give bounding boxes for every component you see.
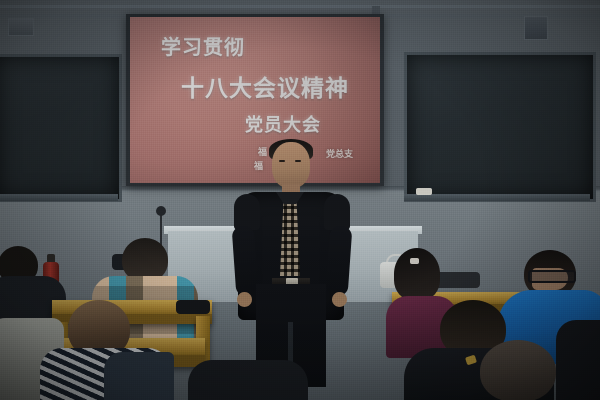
slide-heading-line1: 学习贯彻 (130, 31, 328, 60)
desk-object-center (176, 300, 210, 314)
audience-dark-front-right (556, 320, 600, 400)
chalk-piece (416, 188, 432, 195)
presenter (234, 142, 350, 387)
ceiling-line (0, 5, 600, 8)
slide-heading-line3: 党员大会 (158, 111, 380, 137)
slide-heading-line2: 十八大会议精神 (140, 69, 380, 103)
torso (188, 360, 308, 400)
presenter-eye-left (279, 160, 285, 162)
presenter-eye-right (295, 160, 301, 162)
classroom-photo: 学习贯彻 十八大会议精神 党员大会 福 福 党总支 (0, 0, 600, 400)
blackboard-right (404, 52, 596, 202)
microphone-head (156, 206, 166, 216)
presenter-shoulder-left (234, 194, 260, 230)
blackboard-left (0, 54, 122, 202)
wall-speaker-left (8, 18, 34, 36)
presenter-shoulder-right (324, 194, 350, 230)
presenter-hand-right (332, 292, 347, 307)
wall-speaker-right (524, 16, 548, 40)
hair-clip (410, 258, 419, 264)
glasses-icon (528, 270, 576, 283)
presenter-arm-right (326, 225, 353, 296)
presenter-head (272, 142, 310, 188)
head (480, 340, 556, 400)
audience-dark-front-center (188, 360, 308, 400)
shawl (104, 352, 174, 400)
audience-bald-man-front (470, 340, 566, 400)
torso (556, 320, 600, 400)
chalk-tray-right (404, 194, 590, 201)
audience-striped-person (40, 300, 170, 400)
head (394, 248, 440, 300)
chalk-tray-left (0, 194, 118, 201)
presenter-hand-left (237, 292, 252, 307)
